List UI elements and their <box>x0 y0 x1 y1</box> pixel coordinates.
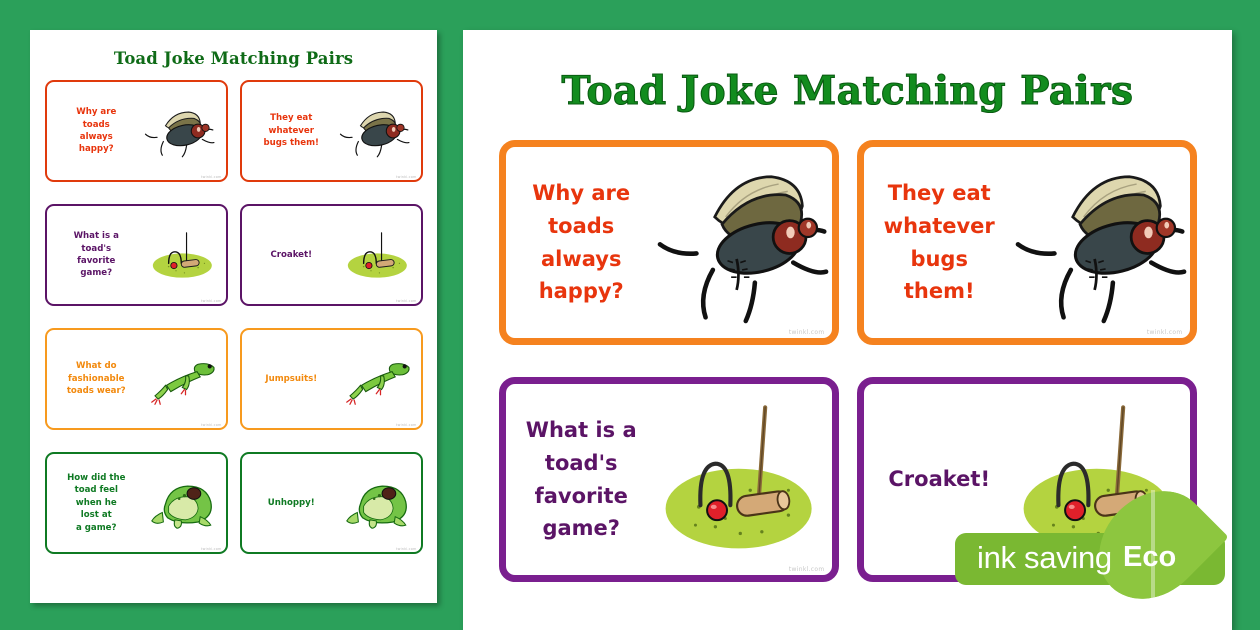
sitting-frog-icon: twinkl.com <box>331 454 421 552</box>
croquet-icon: twinkl.com <box>136 206 226 304</box>
thumbnail-card[interactable]: Why aretoadsalwayshappy? <box>45 80 228 182</box>
croquet-icon: twinkl.com <box>649 384 832 575</box>
watermark: twinkl.com <box>201 547 221 551</box>
thumbnail-card[interactable]: What dofashionabletoads wear? <box>45 328 228 430</box>
watermark: twinkl.com <box>201 175 221 179</box>
thumbnail-page-title: Toad Joke Matching Pairs <box>30 49 437 68</box>
thumbnail-card[interactable]: Croaket! twinkl.com <box>240 204 423 306</box>
joke-card-text: Croaket! <box>864 463 1007 496</box>
thumbnail-card[interactable]: They eatwhateverbugs them! <box>240 80 423 182</box>
ink-saving-eco-badge: ink saving Eco <box>955 528 1260 590</box>
joke-card-question-fly[interactable]: Why aretoadsalwayshappy? <box>499 140 839 345</box>
thumbnail-card-text: What dofashionabletoads wear? <box>47 360 137 397</box>
thumbnail-card[interactable]: What is atoad'sfavoritegame? <box>45 204 228 306</box>
thumbnail-card-text: How did thetoad feelwhen helost ata game… <box>47 472 137 534</box>
thumbnail-card-text: Unhoppy! <box>242 497 332 509</box>
watermark: twinkl.com <box>1147 329 1183 336</box>
watermark: twinkl.com <box>396 423 416 427</box>
watermark: twinkl.com <box>396 547 416 551</box>
joke-card-question-croquet[interactable]: What is atoad'sfavoritegame? <box>499 377 839 582</box>
main-card-grid: Why aretoadsalwayshappy? <box>499 140 1197 582</box>
joke-card-text: What is atoad'sfavoritegame? <box>506 414 649 544</box>
thumbnail-card-text: Why aretoadsalwayshappy? <box>47 106 137 156</box>
eco-badge-word: Eco <box>1123 541 1176 574</box>
eco-badge-label: ink saving <box>977 540 1112 576</box>
housefly-icon: twinkl.com <box>331 82 421 180</box>
watermark: twinkl.com <box>789 329 825 336</box>
joke-card-answer-fly[interactable]: They eatwhateverbugs them! <box>857 140 1197 345</box>
housefly-icon: twinkl.com <box>1007 147 1190 338</box>
housefly-icon: twinkl.com <box>136 82 226 180</box>
housefly-icon: twinkl.com <box>649 147 832 338</box>
thumbnail-sheet[interactable]: Toad Joke Matching Pairs Why aretoadsalw… <box>30 30 437 603</box>
watermark: twinkl.com <box>201 299 221 303</box>
croquet-icon: twinkl.com <box>331 206 421 304</box>
thumbnail-card-text: What is atoad'sfavoritegame? <box>47 230 137 280</box>
joke-card-text: Why aretoadsalwayshappy? <box>506 177 649 307</box>
leaping-frog-icon: twinkl.com <box>136 330 226 428</box>
thumbnail-card-text: Jumpsuits! <box>242 373 332 385</box>
leaping-frog-icon: twinkl.com <box>331 330 421 428</box>
joke-card-text: They eatwhateverbugs them! <box>864 177 1007 307</box>
page-root: Toad Joke Matching Pairs Why aretoadsalw… <box>0 0 1260 630</box>
thumbnail-card[interactable]: Unhoppy! twinkl.com <box>240 452 423 554</box>
sitting-frog-icon: twinkl.com <box>136 454 226 552</box>
watermark: twinkl.com <box>396 299 416 303</box>
thumbnail-card[interactable]: How did thetoad feelwhen helost ata game… <box>45 452 228 554</box>
watermark: twinkl.com <box>201 423 221 427</box>
thumbnail-card-text: They eatwhateverbugs them! <box>242 112 332 149</box>
watermark: twinkl.com <box>396 175 416 179</box>
thumbnail-card-grid: Why aretoadsalwayshappy? <box>45 80 423 554</box>
watermark: twinkl.com <box>789 566 825 573</box>
thumbnail-card[interactable]: Jumpsuits! twinkl.com <box>240 328 423 430</box>
page-title: Toad Joke Matching Pairs <box>463 68 1232 114</box>
thumbnail-card-text: Croaket! <box>242 249 332 261</box>
